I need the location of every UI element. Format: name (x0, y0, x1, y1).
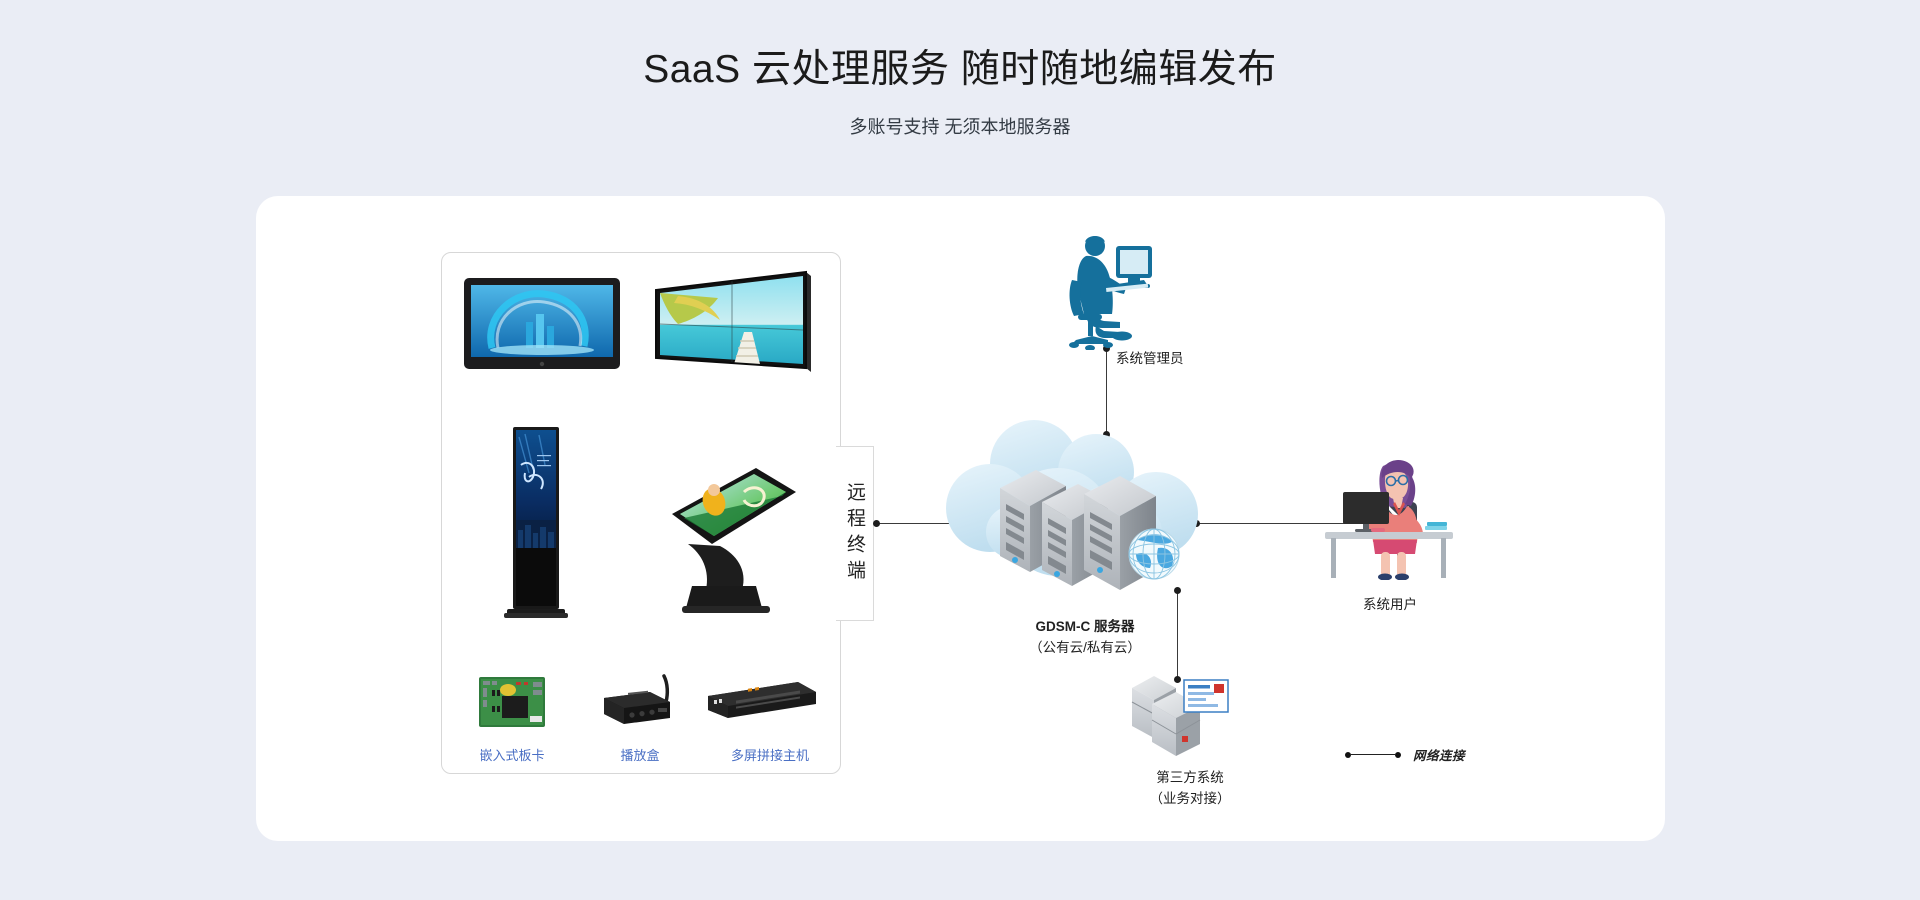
server-node-label: GDSM-C 服务器 （公有云/私有云） (990, 617, 1180, 659)
embedded-board-icon (478, 676, 546, 728)
server-node-label-sub: （公有云/私有云） (990, 638, 1180, 659)
device-caption-splicing-host: 多屏拼接主机 (680, 745, 860, 764)
connector-dot-terminal (873, 520, 880, 527)
third-party-system-label: 第三方系统 （业务对接） (1110, 768, 1270, 810)
legend-label: 网络连接 (1413, 745, 1465, 764)
legend-line (1351, 754, 1395, 755)
system-admin-label: 系统管理员 (1116, 349, 1184, 370)
page-subtitle: 多账号支持 无须本地服务器 (0, 113, 1920, 139)
third-party-system-icon (1128, 672, 1232, 758)
wall-mount-display-icon (462, 276, 622, 371)
page-title: SaaS 云处理服务 随时随地编辑发布 (0, 46, 1920, 95)
system-admin-icon (1068, 228, 1156, 350)
video-wall-display-icon (648, 268, 813, 380)
legend: 网络连接 (1345, 745, 1465, 764)
cloud-servers-group (938, 410, 1228, 600)
page-root: SaaS 云处理服务 随时随地编辑发布 多账号支持 无须本地服务器 (0, 0, 1920, 900)
standing-kiosk-display-icon (499, 425, 571, 621)
media-player-box-icon (598, 672, 678, 728)
remote-terminal-label: 远程终端 (845, 482, 864, 586)
globe-icon (1129, 529, 1179, 579)
third-party-label-sub: （业务对接） (1110, 789, 1270, 810)
header: SaaS 云处理服务 随时随地编辑发布 多账号支持 无须本地服务器 (0, 0, 1920, 139)
system-user-icon (1325, 448, 1455, 580)
multiscreen-splicing-host-icon (702, 676, 820, 724)
third-party-label-main: 第三方系统 (1110, 768, 1270, 789)
server-node-label-main: GDSM-C 服务器 (990, 617, 1180, 638)
system-user-label: 系统用户 (1340, 595, 1440, 616)
legend-dot-right (1395, 752, 1401, 758)
remote-terminal-label-box: 远程终端 (836, 446, 874, 621)
touch-table-kiosk-icon (658, 458, 803, 618)
